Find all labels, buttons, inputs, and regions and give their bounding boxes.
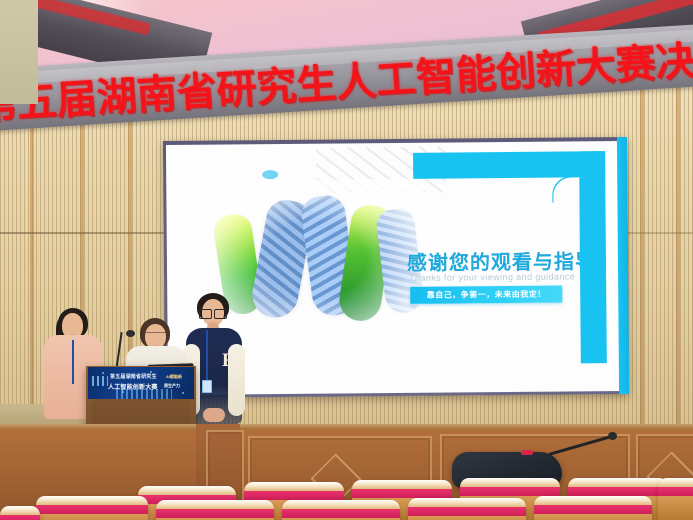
microphone-head [126,330,135,337]
slide-blue-accent-dot [262,170,278,179]
glasses-icon [145,332,166,338]
person-speaker-at-podium [0,0,38,104]
lanyard [72,340,74,384]
podium-sign: 第五届湖南省研究生 人工智能创新大赛 AI赋能新 质生产力 [88,367,194,399]
podium-sign-line2: 人工智能创新大赛 [108,382,158,391]
trousers [0,0,38,104]
stage-top-edge [0,424,693,429]
seat [534,496,652,520]
badge [202,380,212,393]
slide-cyan-bracket-vertical [579,151,607,363]
glasses-icon [199,309,227,317]
seat [156,500,274,520]
wall-divider [640,86,644,426]
podium-logo-icon [92,376,108,386]
podium-sign-side2: 质生产力 [164,383,180,389]
microphone-boom-head [608,432,617,440]
collage-fade-overlay [204,179,425,341]
wall-divider [676,86,680,426]
clasped-hands [203,408,225,422]
podium-sign-side1: AI赋能新 [166,374,182,380]
lanyard [206,330,208,382]
slide-cyan-bracket-horizontal [413,151,605,179]
seat [658,478,693,520]
slide-cyan-corner-notch [553,177,579,203]
seat [0,506,40,520]
backpack-red-tag [521,450,533,455]
podium-sign-line1: 第五届湖南省研究生 [110,373,157,380]
seat [282,500,400,520]
slide-collage-graphic [214,189,415,331]
slide-slogan-pill: 靠自己，争第一，未来由我定！ [410,286,562,304]
jacket-letter: F [222,350,234,372]
wall-divider [30,86,34,426]
seat [408,498,526,520]
conference-hall-photo: 第五届湖南省研究生人工智能创新大赛决赛会场 感谢您的观看与指导 Thanks f… [0,0,693,520]
seat [36,496,148,520]
